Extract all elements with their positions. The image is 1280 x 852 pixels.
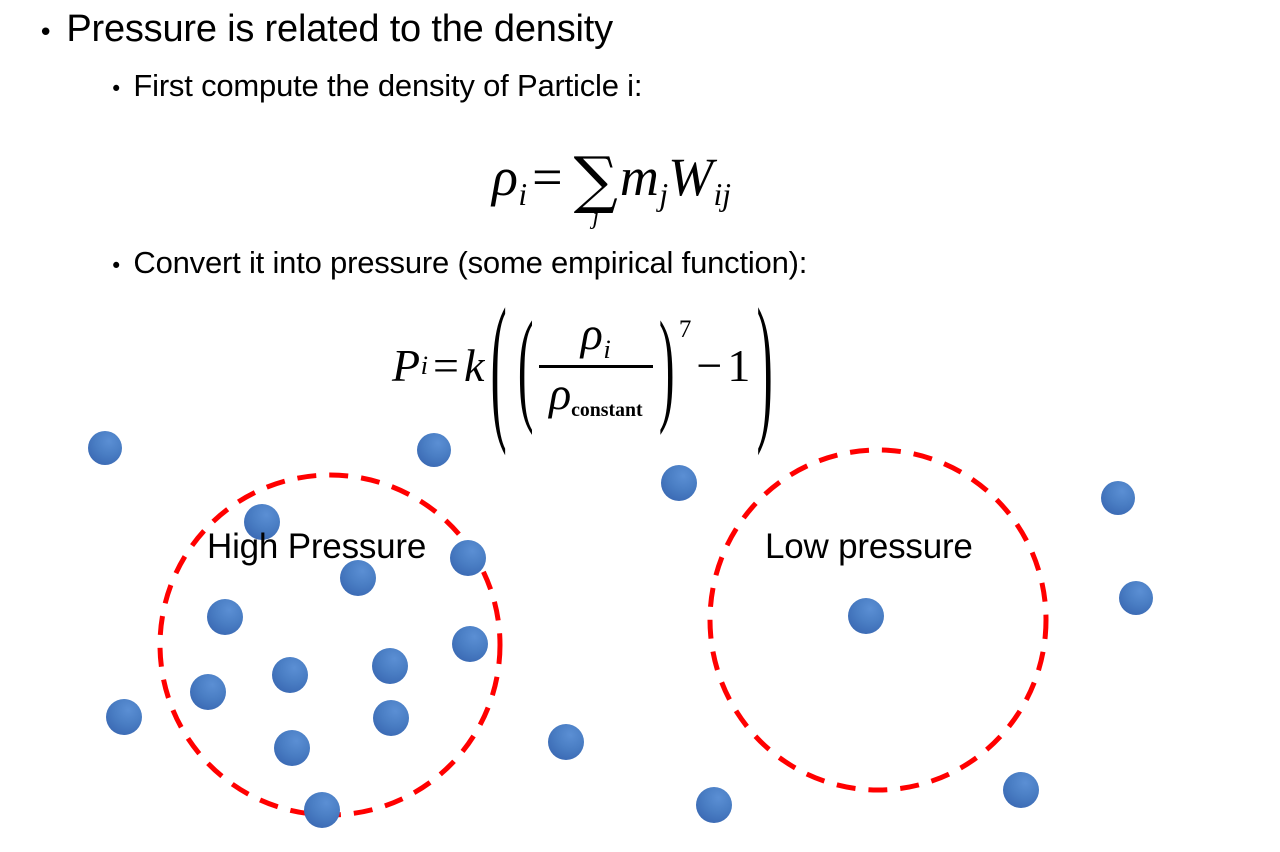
slide-canvas: • Pressure is related to the density • F… (0, 0, 1280, 852)
outer-open-paren: ( (491, 271, 507, 459)
particle (548, 724, 584, 760)
numerator-symbol: ρ (581, 308, 603, 359)
fraction-denominator: ρconstant (539, 370, 652, 421)
bullet-marker-icon: • (38, 20, 53, 46)
particle (1003, 772, 1039, 808)
bullet-item-level2-first: • First compute the density of Particle … (110, 68, 642, 104)
bullet-item-level2-second: • Convert it into pressure (some empiric… (110, 245, 807, 281)
summation-index: j (592, 204, 599, 231)
bullet-marker-icon: • (110, 256, 122, 277)
constant-one: 1 (727, 339, 750, 392)
pressure-lhs-symbol: P (392, 339, 420, 392)
inner-close-paren: ) (658, 292, 674, 438)
particle (372, 648, 408, 684)
particle (88, 431, 122, 465)
kernel-subscript: ij (714, 177, 731, 212)
pressure-lhs-subscript: i (421, 350, 428, 381)
density-equals-sign: = (532, 147, 562, 207)
particle (190, 674, 226, 710)
region-outline-layer (0, 0, 1280, 852)
density-lhs-subscript: i (518, 177, 527, 212)
particle (304, 792, 340, 828)
density-ratio-fraction: ρiρconstant (539, 310, 652, 420)
mass-subscript: j (659, 177, 668, 212)
bullet-text-convert-pressure: Convert it into pressure (some empirical… (133, 245, 807, 281)
denominator-symbol: ρ (549, 368, 571, 419)
high-pressure-region-label: High Pressure (207, 527, 426, 567)
particle (274, 730, 310, 766)
pressure-equals-sign: = (433, 339, 459, 392)
particle (207, 599, 243, 635)
exponent-seven: 7 (679, 316, 692, 344)
particle (106, 699, 142, 735)
bullet-item-level1: • Pressure is related to the density (38, 8, 613, 51)
numerator-subscript: i (603, 334, 610, 364)
mass-symbol: m (620, 147, 659, 207)
low-pressure-region-label: Low pressure (765, 527, 973, 567)
denominator-subscript: constant (571, 398, 642, 420)
particle (696, 787, 732, 823)
summation-symbol-group: ∑j (574, 152, 618, 214)
particle (452, 626, 488, 662)
particle (661, 465, 697, 501)
outer-close-paren: ) (757, 271, 773, 459)
equation-density: ρi=∑jmjWij (492, 146, 731, 214)
fraction-numerator: ρi (571, 310, 621, 363)
bullet-text-compute-density: First compute the density of Particle i: (133, 68, 642, 104)
particle (450, 540, 486, 576)
density-lhs-symbol: ρ (492, 147, 518, 207)
stiffness-coefficient: k (464, 339, 484, 392)
equation-pressure: Pi=k((ρiρconstant)7−1) (392, 310, 780, 420)
particle (417, 433, 451, 467)
particle (373, 700, 409, 736)
high-pressure-region (160, 475, 500, 815)
bullet-marker-icon: • (110, 79, 122, 100)
minus-sign: − (696, 339, 722, 392)
bullet-text-pressure-density: Pressure is related to the density (66, 8, 613, 51)
particle (848, 598, 884, 634)
particle (272, 657, 308, 693)
kernel-symbol: W (668, 147, 713, 207)
particle (1101, 481, 1135, 515)
inner-open-paren: ( (518, 292, 534, 438)
particle (1119, 581, 1153, 615)
